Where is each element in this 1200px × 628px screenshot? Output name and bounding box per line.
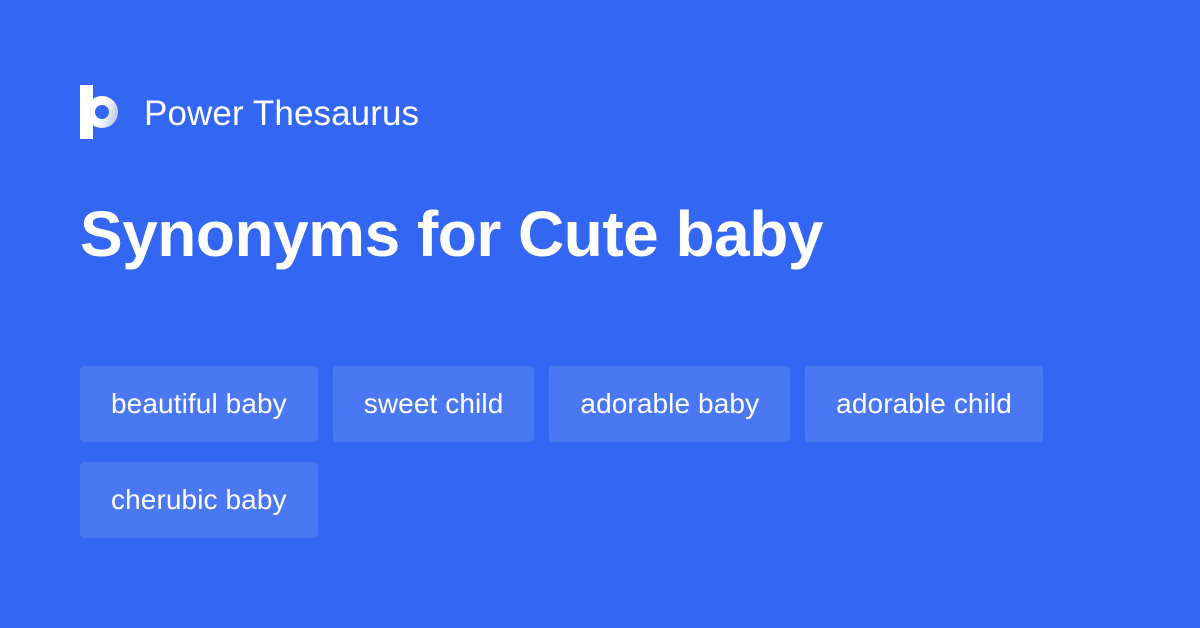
synonym-chip[interactable]: sweet child [333,366,535,442]
power-thesaurus-b-logo-icon [80,85,124,139]
synonym-chip[interactable]: beautiful baby [80,366,318,442]
brand-lockup[interactable]: Power Thesaurus [80,84,419,140]
synonym-chip[interactable]: adorable baby [549,366,790,442]
brand-name: Power Thesaurus [144,96,419,131]
synonym-chip-list: beautiful baby sweet child adorable baby… [80,366,1130,538]
synonym-chip[interactable]: cherubic baby [80,462,318,538]
share-card: Power Thesaurus Synonyms for Cute baby b… [0,0,1200,628]
synonym-chip[interactable]: adorable child [805,366,1043,442]
page-title: Synonyms for Cute baby [80,200,1140,269]
